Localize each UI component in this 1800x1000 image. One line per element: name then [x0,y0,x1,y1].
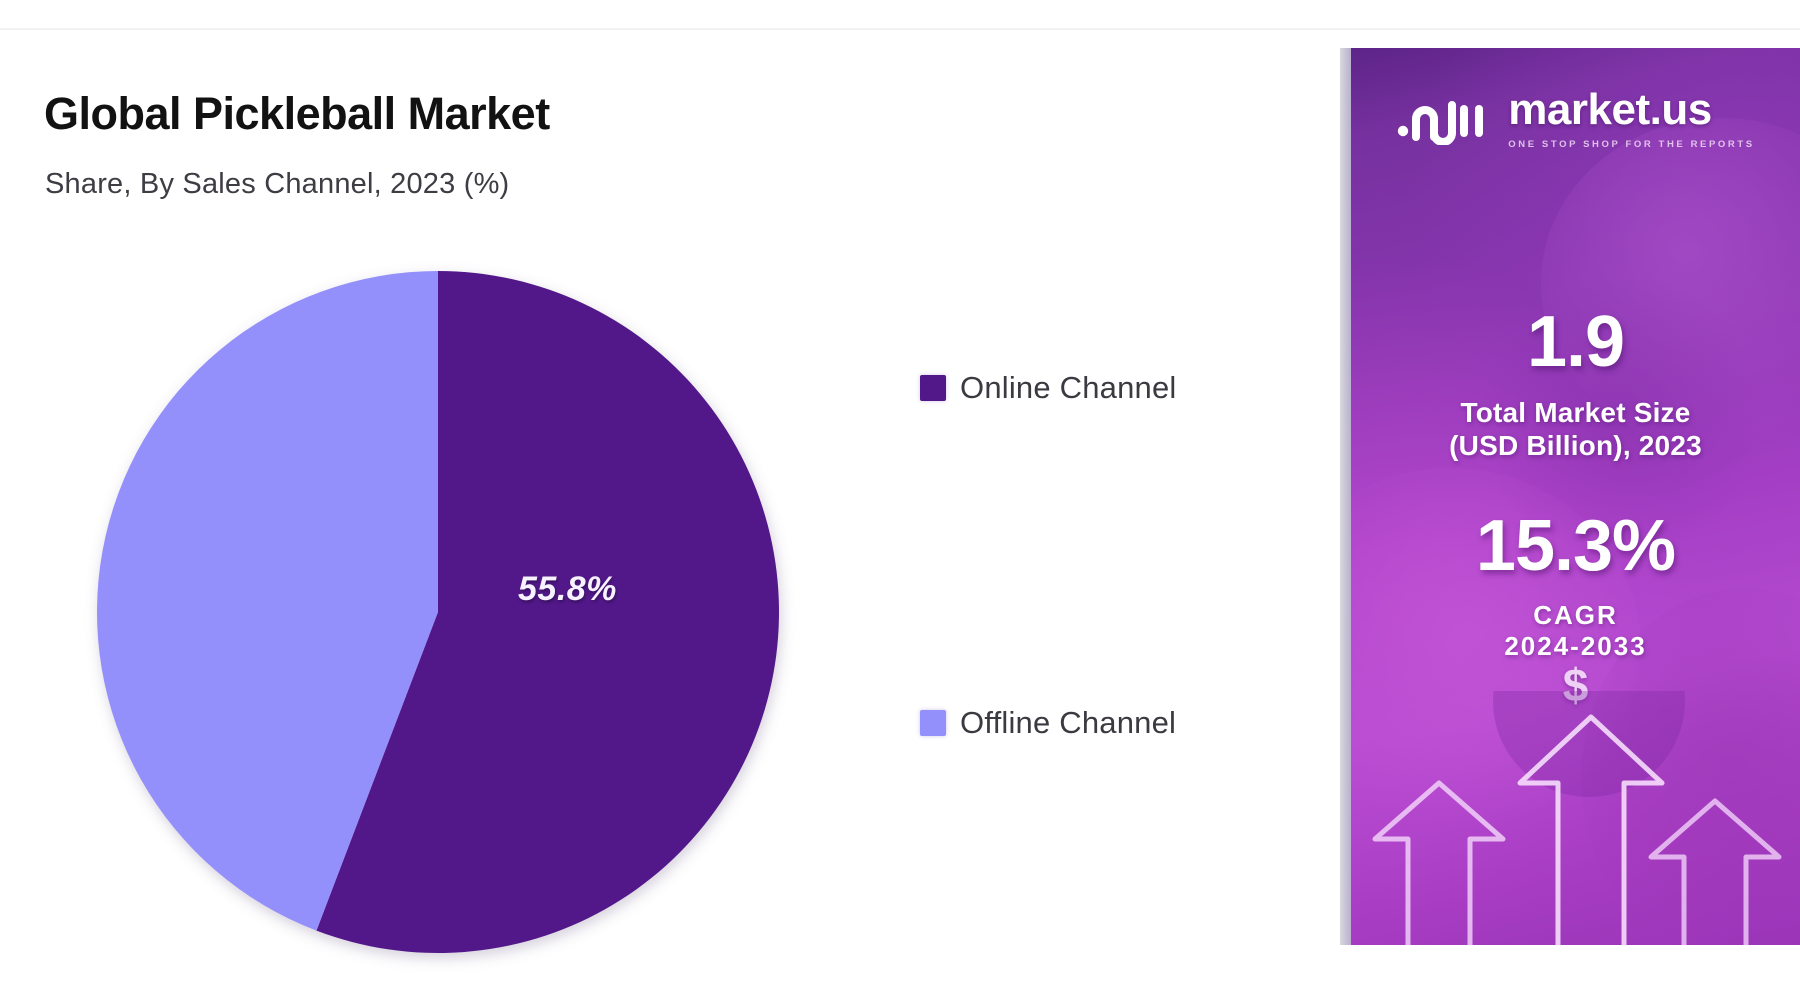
stat-market-size: 1.9 Total Market Size (USD Billion), 202… [1351,306,1800,462]
brand-name: market.us [1508,88,1711,132]
legend-item-offline[interactable]: Offline Channel [920,705,1176,741]
stats-panel: market.us ONE STOP SHOP FOR THE REPORTS … [1351,48,1800,945]
brand-logo[interactable]: market.us ONE STOP SHOP FOR THE REPORTS [1351,88,1800,150]
legend-label-offline: Offline Channel [960,705,1176,741]
dollar-sign-icon: $ [1351,658,1800,712]
chart-legend: Online Channel Offline Channel [920,330,1300,790]
legend-swatch-offline-icon [920,710,946,736]
chart-subtitle: Share, By Sales Channel, 2023 (%) [45,168,509,201]
legend-swatch-online-icon [920,375,946,401]
market-us-logo-icon [1396,93,1492,145]
stat-market-size-value: 1.9 [1351,306,1800,378]
brand-tagline: ONE STOP SHOP FOR THE REPORTS [1508,139,1754,150]
stat-cagr-caption-line1: CAGR [1533,600,1618,630]
pie-chart: 55.8% [88,262,788,962]
infographic-canvas: Global Pickleball Market Share, By Sales… [0,0,1800,1000]
chart-panel: Global Pickleball Market Share, By Sales… [0,30,1345,970]
stat-cagr: 15.3% CAGR 2024-2033 [1351,510,1800,661]
chart-title: Global Pickleball Market [44,88,550,140]
growth-arrows-icon [1351,691,1800,945]
stat-cagr-value: 15.3% [1351,510,1800,582]
stat-cagr-caption-line2: 2024-2033 [1351,631,1800,662]
panel-divider [1340,48,1351,945]
stat-market-size-caption-line2: (USD Billion), 2023 [1351,429,1800,462]
stat-market-size-caption: Total Market Size (USD Billion), 2023 [1351,396,1800,462]
legend-label-online: Online Channel [960,370,1177,406]
legend-item-online[interactable]: Online Channel [920,370,1177,406]
pie-svg [88,262,788,962]
stat-cagr-caption: CAGR 2024-2033 [1351,600,1800,661]
pie-slice-label-online: 55.8% [518,570,617,609]
stat-market-size-caption-line1: Total Market Size [1460,397,1690,428]
